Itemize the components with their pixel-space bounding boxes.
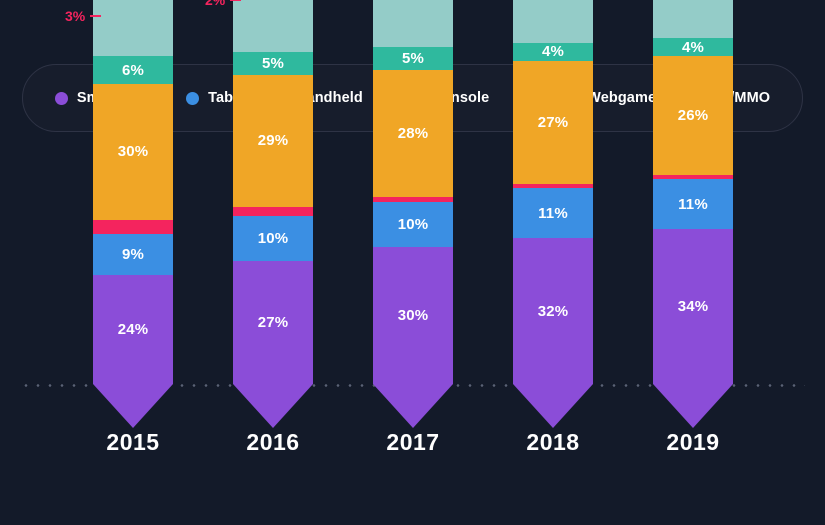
- bar-segment-2017-casual-webgames[interactable]: 5%: [373, 47, 453, 70]
- bar-segment-2017-tv-console[interactable]: 28%: [373, 70, 453, 197]
- bar-segment-2019-tv-console[interactable]: 26%: [653, 56, 733, 174]
- segment-value-label: 27%: [538, 115, 569, 130]
- bar-stack-2016: 27%5%29%2%10%27%: [233, 0, 313, 384]
- bar-segment-2015-pc-mmo[interactable]: 28%: [93, 0, 173, 56]
- segment-value-label: 4%: [682, 40, 704, 55]
- bar-segment-2018-pc-mmo[interactable]: 26%: [513, 0, 593, 43]
- bar-segment-2015-smartphone[interactable]: 24%: [93, 275, 173, 384]
- stacked-bar-2016[interactable]: 27%5%29%2%10%27%2%: [233, 0, 313, 428]
- bar-segment-2019-pc-mmo[interactable]: 25%: [653, 0, 733, 38]
- bar-group-2016: 27%5%29%2%10%27%2%2016: [203, 140, 343, 480]
- segment-value-label: 10%: [258, 231, 289, 246]
- bar-segment-2018-tablet[interactable]: 11%: [513, 188, 593, 238]
- bar-segment-2018-casual-webgames[interactable]: 4%: [513, 43, 593, 61]
- bar-segment-2017-pc-mmo[interactable]: 26%: [373, 0, 453, 47]
- bar-segment-2019-tablet[interactable]: 11%: [653, 179, 733, 229]
- bar-segment-2015-casual-webgames[interactable]: 6%: [93, 56, 173, 83]
- handheld-callout-2016: 2%: [205, 0, 241, 7]
- bar-segment-2016-smartphone[interactable]: 27%: [233, 261, 313, 384]
- bar-segment-2018-tv-console[interactable]: 27%: [513, 61, 593, 184]
- bar-segment-2016-tv-console[interactable]: 29%: [233, 75, 313, 207]
- segment-value-label: 5%: [262, 56, 284, 71]
- handheld-callout-label: 2%: [205, 0, 225, 7]
- stacked-bar-2018[interactable]: 26%4%27%1%11%32%1%: [513, 0, 593, 428]
- bar-segment-2015-handheld[interactable]: 3%: [93, 220, 173, 234]
- segment-value-label: 4%: [542, 44, 564, 59]
- bar-pointer-tip-2016: [233, 384, 313, 428]
- segment-value-label: 30%: [118, 144, 149, 159]
- segment-value-label: 26%: [678, 108, 709, 123]
- bar-segment-2016-pc-mmo[interactable]: 27%: [233, 0, 313, 52]
- segment-value-label: 34%: [678, 299, 709, 314]
- segment-value-label: 9%: [122, 247, 144, 262]
- stacked-bar-2017[interactable]: 26%5%28%1%10%30%1%: [373, 0, 453, 428]
- bar-stack-2015: 28%6%30%3%9%24%: [93, 0, 173, 384]
- x-axis-label-2015: 2015: [63, 429, 203, 456]
- bar-stack-2017: 26%5%28%1%10%30%: [373, 0, 453, 384]
- bar-group-2019: 25%4%26%1%11%34%1%2019: [623, 140, 763, 480]
- x-axis-label-2018: 2018: [483, 429, 623, 456]
- bar-group-2017: 26%5%28%1%10%30%1%2017: [343, 140, 483, 480]
- segment-value-label: 5%: [402, 51, 424, 66]
- segment-value-label: 6%: [122, 63, 144, 78]
- bar-segment-2015-tv-console[interactable]: 30%: [93, 84, 173, 221]
- bar-pointer-tip-2019: [653, 384, 733, 428]
- callout-leader-line: [90, 15, 101, 17]
- bar-group-2015: 28%6%30%3%9%24%3%2015: [63, 140, 203, 480]
- segment-value-label: 24%: [118, 322, 149, 337]
- callout-leader-line: [230, 0, 241, 1]
- x-axis-label-2017: 2017: [343, 429, 483, 456]
- handheld-callout-label: 3%: [65, 9, 85, 23]
- handheld-callout-2015: 3%: [65, 9, 101, 23]
- bar-segment-2016-casual-webgames[interactable]: 5%: [233, 52, 313, 75]
- bar-segment-2019-smartphone[interactable]: 34%: [653, 229, 733, 384]
- segment-value-label: 29%: [258, 133, 289, 148]
- bar-pointer-tip-2018: [513, 384, 593, 428]
- x-axis-label-2019: 2019: [623, 429, 763, 456]
- bar-segment-2018-smartphone[interactable]: 32%: [513, 238, 593, 384]
- bar-segment-2016-handheld[interactable]: 2%: [233, 207, 313, 216]
- bar-segment-2016-tablet[interactable]: 10%: [233, 216, 313, 262]
- circle-dot-icon: [55, 92, 68, 105]
- bar-pointer-tip-2015: [93, 384, 173, 428]
- bar-segment-2017-tablet[interactable]: 10%: [373, 202, 453, 248]
- segment-value-label: 11%: [678, 197, 708, 212]
- segment-value-label: 30%: [398, 308, 429, 323]
- segment-value-label: 32%: [538, 304, 569, 319]
- bar-stack-2019: 25%4%26%1%11%34%: [653, 0, 733, 384]
- segment-value-label: 27%: [258, 315, 289, 330]
- bar-segment-2015-tablet[interactable]: 9%: [93, 234, 173, 275]
- x-axis-label-2016: 2016: [203, 429, 343, 456]
- chart-plot-area: 28%6%30%3%9%24%3%201527%5%29%2%10%27%2%2…: [0, 140, 825, 480]
- bar-segment-2019-casual-webgames[interactable]: 4%: [653, 38, 733, 56]
- segment-value-label: 10%: [398, 217, 429, 232]
- bar-segment-2017-smartphone[interactable]: 30%: [373, 247, 453, 384]
- bar-stack-2018: 26%4%27%1%11%32%: [513, 0, 593, 384]
- bar-pointer-tip-2017: [373, 384, 453, 428]
- stacked-bar-2019[interactable]: 25%4%26%1%11%34%1%: [653, 0, 733, 428]
- stacked-bar-2015[interactable]: 28%6%30%3%9%24%3%: [93, 0, 173, 428]
- segment-value-label: 28%: [398, 126, 429, 141]
- circle-dot-icon: [186, 92, 199, 105]
- segment-value-label: 11%: [538, 206, 568, 221]
- bar-group-2018: 26%4%27%1%11%32%1%2018: [483, 140, 623, 480]
